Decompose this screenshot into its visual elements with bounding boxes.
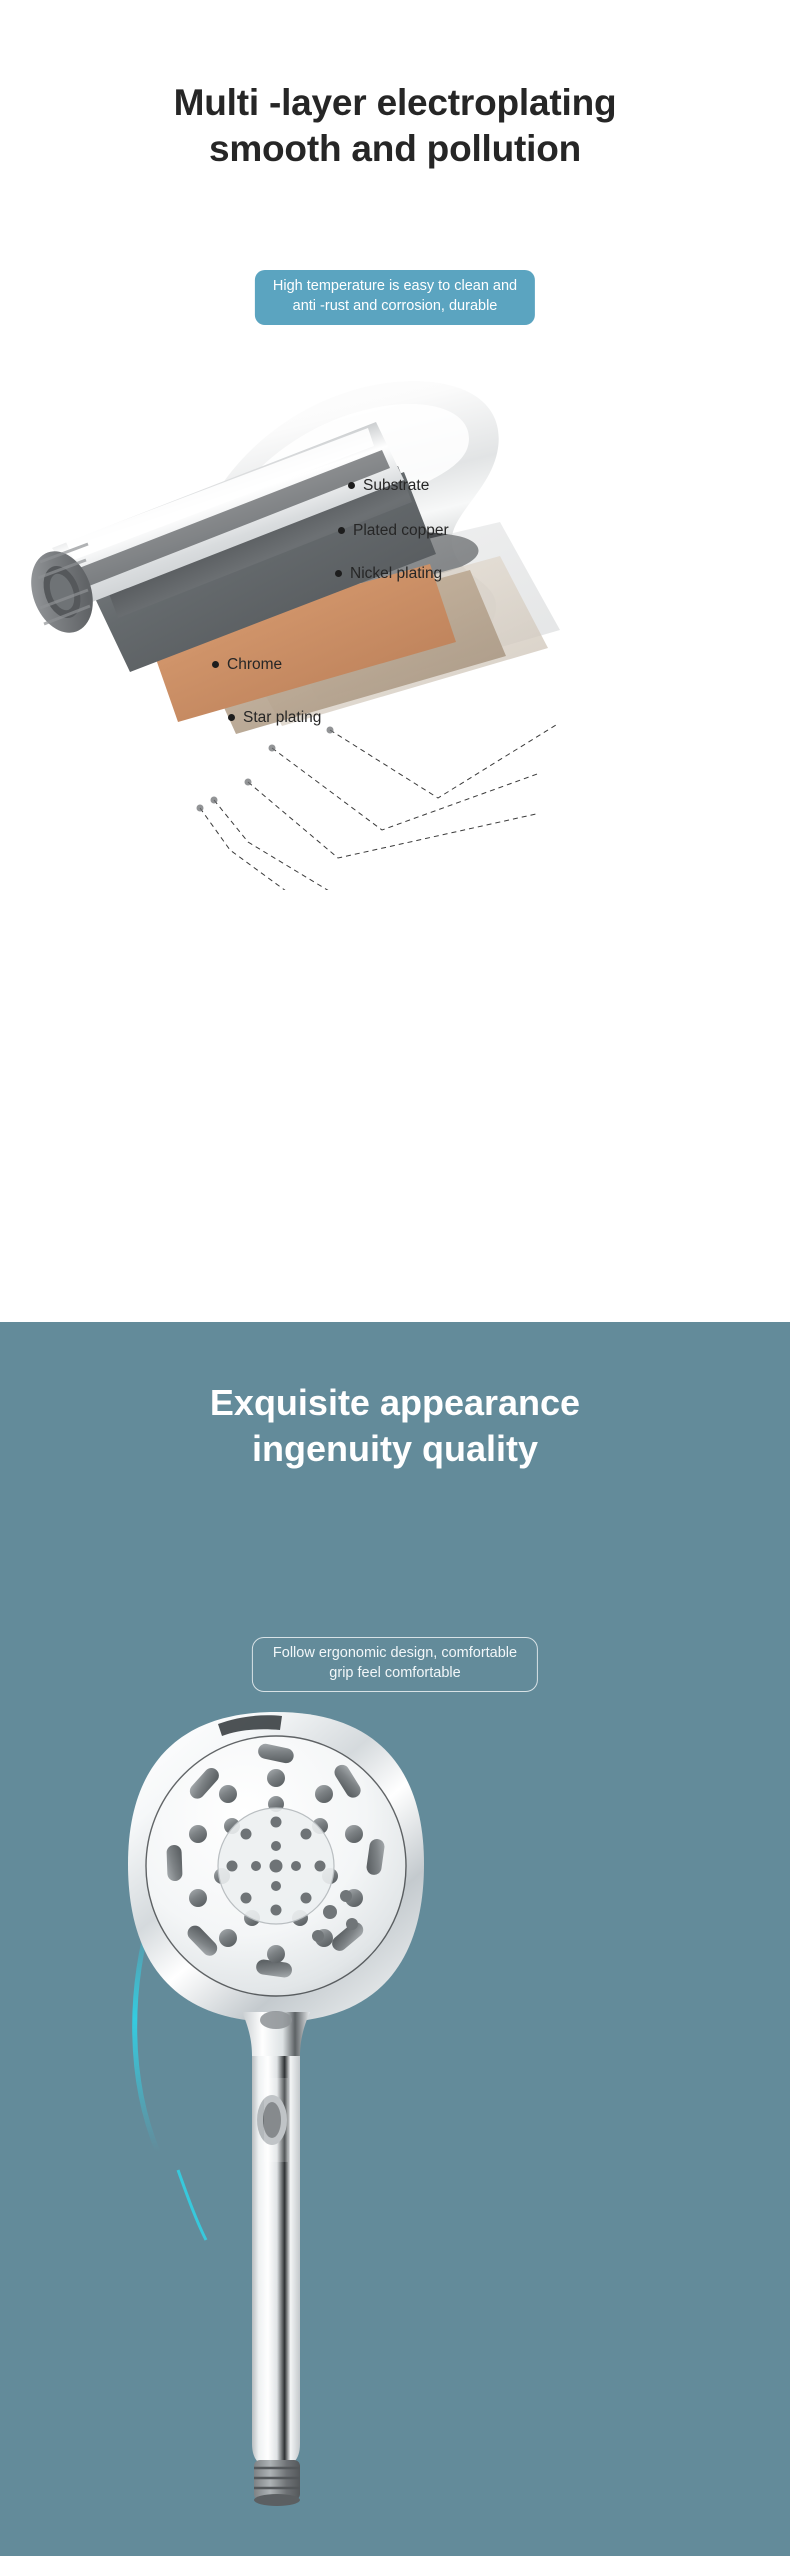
accent-glow-lower — [178, 2170, 206, 2240]
callout-plated-copper: Plated copper — [338, 523, 449, 539]
section-one-title-line1: Multi -layer electroplating — [174, 82, 617, 123]
callout-substrate: Substrate — [348, 478, 429, 494]
section-two-badge: Follow ergonomic design, comfortable gri… — [252, 1637, 538, 1692]
callout-label-chrome: Chrome — [227, 656, 282, 673]
callout-dot-nickel-plating — [335, 570, 342, 577]
section-one-badge-line1: High temperature is easy to clean and — [273, 278, 517, 294]
callout-dot-substrate — [348, 482, 355, 489]
neck-pivot — [260, 2011, 292, 2029]
callout-star-plating: Star plating — [228, 710, 321, 726]
callout-dot-chrome — [212, 661, 219, 668]
callout-label-substrate: Substrate — [363, 477, 429, 494]
callout-dot-plated-copper — [338, 527, 345, 534]
callout-label-plated-copper: Plated copper — [353, 522, 449, 539]
section-two-badge-line1: Follow ergonomic design, comfortable — [273, 1645, 517, 1661]
section-two-title: Exquisite appearance ingenuity quality — [0, 1380, 790, 1472]
product-detail-page: Multi -layer electroplating smooth and p… — [0, 0, 790, 2556]
callout-label-nickel-plating: Nickel plating — [350, 565, 442, 582]
section-two-badge-line2: grip feel comfortable — [273, 1664, 517, 1684]
handle-highlight — [264, 2078, 288, 2162]
hose-connector — [254, 2460, 300, 2506]
section-one-title: Multi -layer electroplating smooth and p… — [0, 80, 790, 173]
layer-anchor-dots — [197, 727, 334, 812]
callout-label-star-plating: Star plating — [243, 709, 321, 726]
section-two-title-line1: Exquisite appearance — [210, 1382, 580, 1423]
section-one-badge-line2: anti -rust and corrosion, durable — [273, 297, 517, 317]
section-one-title-line2: smooth and pollution — [0, 126, 790, 172]
shower-head-cutaway-illustration — [0, 330, 790, 890]
shower-head-front-illustration — [0, 1700, 790, 2556]
callout-dot-star-plating — [228, 714, 235, 721]
callout-leader-lines — [200, 725, 556, 890]
callout-nickel-plating: Nickel plating — [335, 566, 442, 582]
section-electroplating: Multi -layer electroplating smooth and p… — [0, 0, 790, 1322]
section-one-badge: High temperature is easy to clean and an… — [255, 270, 535, 325]
section-two-title-line2: ingenuity quality — [0, 1426, 790, 1472]
callout-chrome: Chrome — [212, 657, 282, 673]
